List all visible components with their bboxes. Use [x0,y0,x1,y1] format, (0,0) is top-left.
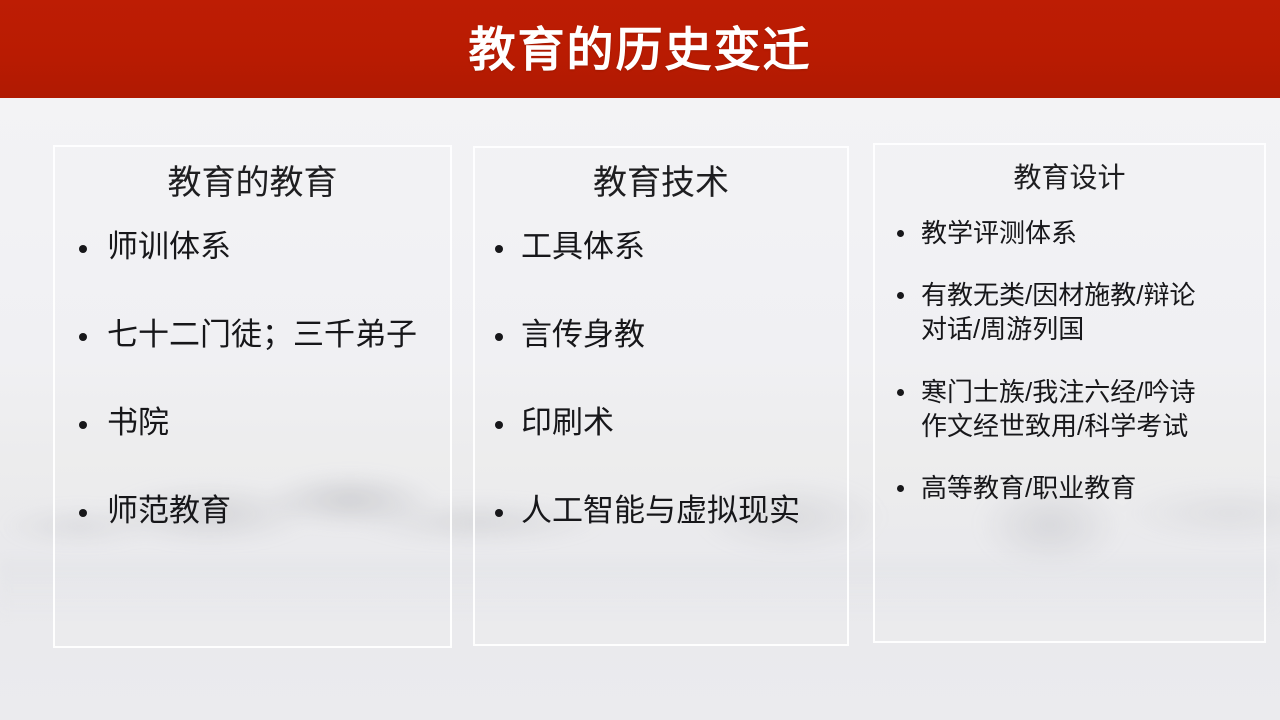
list-item: 有教无类/因材施教/辩论对话/周游列国 [889,278,1250,347]
bullet-dot-icon [897,389,904,396]
list-item: 师训体系 [69,228,436,267]
list-item: 人工智能与虚拟现实 [489,492,833,531]
list-item: 工具体系 [489,228,833,267]
list-item: 言传身教 [489,316,833,355]
list-item: 印刷术 [489,404,833,443]
title-banner: 教育的历史变迁 [0,0,1280,98]
bullet-text: 教学评测体系 [921,216,1221,250]
bullet-text: 言传身教 [521,316,833,355]
column-1-header: 教育的教育 [69,165,436,202]
bullet-text: 师范教育 [107,492,436,531]
bullet-dot-icon [495,333,503,341]
content-columns: 教育的教育 师训体系 七十二门徒；三千弟子 书院 [0,0,1280,720]
column-3-bullet-list: 教学评测体系 有教无类/因材施教/辩论对话/周游列国 寒门士族/我注六经/吟诗作… [889,216,1250,506]
bullet-dot-icon [495,421,503,429]
bullet-text: 高等教育/职业教育 [921,471,1221,505]
bullet-dot-icon [495,245,503,253]
bullet-dot-icon [79,333,87,341]
list-item: 七十二门徒；三千弟子 [69,316,436,355]
column-3-header: 教育设计 [889,163,1250,194]
bullet-dot-icon [79,509,87,517]
column-2-header: 教育技术 [489,165,833,202]
bullet-dot-icon [495,509,503,517]
bullet-text: 有教无类/因材施教/辩论对话/周游列国 [921,278,1221,347]
column-1-bullet-list: 师训体系 七十二门徒；三千弟子 书院 师范教育 [69,228,436,530]
bullet-text: 人工智能与虚拟现实 [521,492,833,531]
list-item: 师范教育 [69,492,436,531]
bullet-text: 寒门士族/我注六经/吟诗作文经世致用/科学考试 [921,375,1221,444]
content-box-1-inner: 教育的教育 师训体系 七十二门徒；三千弟子 书院 [55,165,450,530]
bullet-dot-icon [897,485,904,492]
bullet-text: 书院 [107,404,436,443]
content-box-2[interactable]: 教育技术 工具体系 言传身教 印刷术 [473,146,849,646]
bullet-text: 七十二门徒；三千弟子 [107,316,436,355]
bullet-text: 印刷术 [521,404,833,443]
list-item: 书院 [69,404,436,443]
bullet-dot-icon [79,245,87,253]
content-box-2-inner: 教育技术 工具体系 言传身教 印刷术 [475,165,847,530]
content-box-3[interactable]: 教育设计 教学评测体系 有教无类/因材施教/辩论对话/周游列国 寒门士族/我注六… [873,143,1266,643]
bullet-text: 师训体系 [107,228,436,267]
bullet-dot-icon [79,421,87,429]
bullet-dot-icon [897,230,904,237]
slide-title: 教育的历史变迁 [469,26,812,73]
list-item: 高等教育/职业教育 [889,471,1250,505]
column-2-bullet-list: 工具体系 言传身教 印刷术 人工智能与虚拟现实 [489,228,833,530]
bullet-text: 工具体系 [521,228,833,267]
list-item: 寒门士族/我注六经/吟诗作文经世致用/科学考试 [889,375,1250,444]
content-box-3-inner: 教育设计 教学评测体系 有教无类/因材施教/辩论对话/周游列国 寒门士族/我注六… [875,163,1264,506]
list-item: 教学评测体系 [889,216,1250,250]
content-box-1[interactable]: 教育的教育 师训体系 七十二门徒；三千弟子 书院 [53,145,452,648]
bullet-dot-icon [897,292,904,299]
presentation-slide: 教育的历史变迁 教育的教育 师训体系 七十二门徒；三千弟子 [0,0,1280,720]
